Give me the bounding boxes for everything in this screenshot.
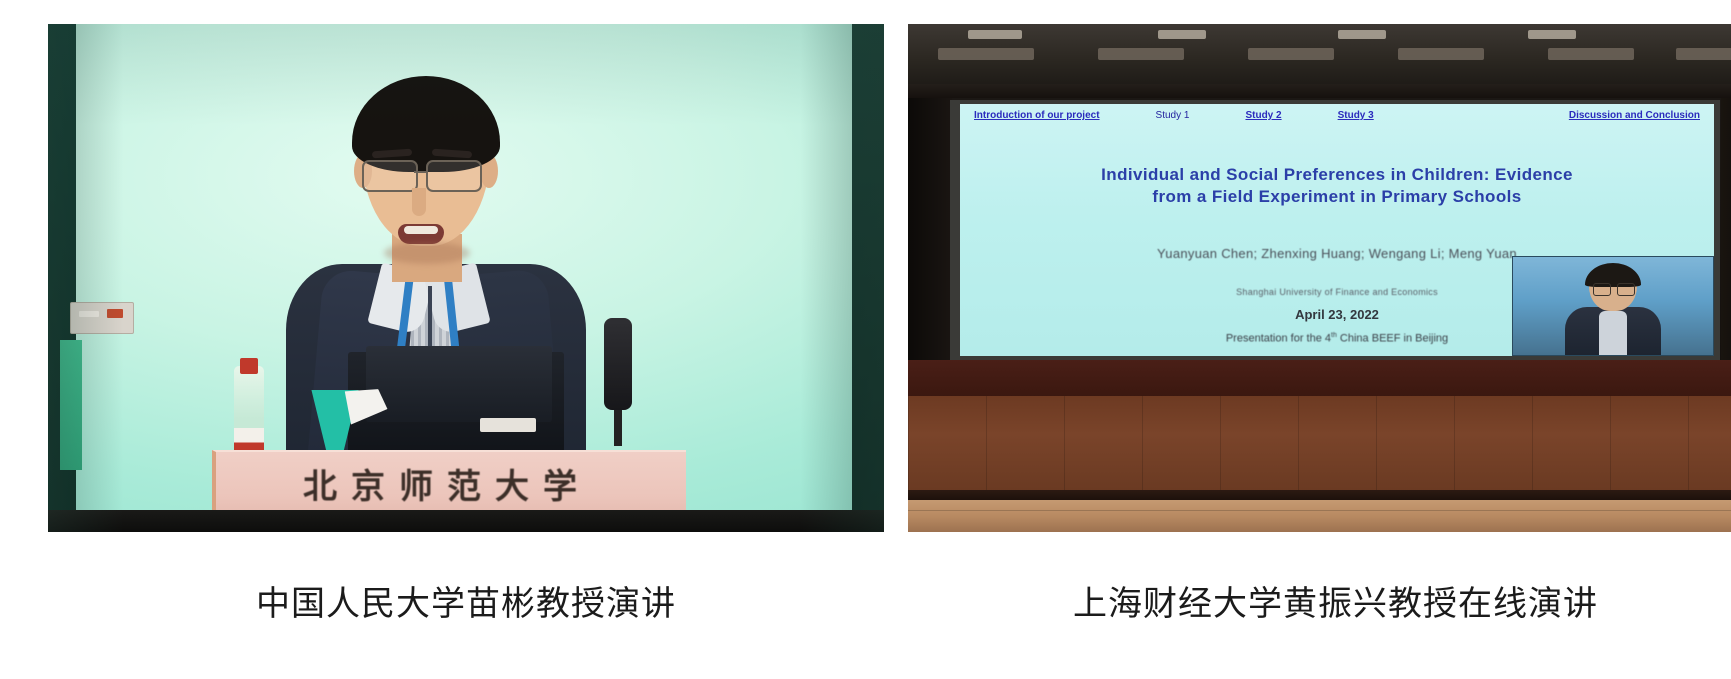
figure-page: 北京师范大学 中国人民大学苗彬教授演讲: [0, 0, 1731, 679]
slide-venue-suffix: China BEEF in Beijing: [1337, 333, 1448, 345]
ceiling-tile: [1676, 48, 1731, 60]
ceiling-tile: [1248, 48, 1334, 60]
figure-left: 北京师范大学 中国人民大学苗彬教授演讲: [48, 24, 884, 625]
projection-screen-frame: Introduction of our project Study 1 Stud…: [950, 100, 1720, 360]
lower-wall-band: [908, 360, 1731, 398]
nav-item-study-2[interactable]: Study 2: [1245, 110, 1281, 121]
nav-item-discussion-conclusion[interactable]: Discussion and Conclusion: [1569, 110, 1700, 121]
nav-item-study-3[interactable]: Study 3: [1338, 110, 1374, 121]
ceiling-light: [968, 30, 1022, 39]
wood-panel-wall: [908, 396, 1731, 492]
photo-left-lecture-hall: 北京师范大学: [48, 24, 884, 532]
webcam-video-inset: [1512, 256, 1714, 356]
ceiling-light: [1338, 30, 1386, 39]
ceiling-tile: [1098, 48, 1184, 60]
slide-navigation-bar: Introduction of our project Study 1 Stud…: [960, 110, 1714, 121]
webcam-person-shirt: [1599, 311, 1627, 355]
nav-item-introduction[interactable]: Introduction of our project: [974, 110, 1100, 121]
ceiling-tile: [1548, 48, 1634, 60]
photo-right-auditorium: Introduction of our project Study 1 Stud…: [908, 24, 1731, 532]
slide-title-line-2: from a Field Experiment in Primary Schoo…: [988, 186, 1686, 208]
presentation-slide: Introduction of our project Study 1 Stud…: [960, 104, 1714, 356]
webcam-eyeglass-lens-right: [1617, 283, 1635, 296]
webcam-eyeglass-lens-left: [1593, 283, 1611, 296]
slide-venue-prefix: Presentation for the 4: [1226, 333, 1331, 345]
ceiling: [908, 24, 1731, 88]
caption-left: 中国人民大学苗彬教授演讲: [48, 576, 884, 625]
photo-vignette: [48, 24, 884, 532]
caption-right: 上海财经大学黄振兴教授在线演讲: [908, 576, 1731, 625]
figure-right: Introduction of our project Study 1 Stud…: [908, 24, 1731, 625]
nav-item-study-1[interactable]: Study 1: [1156, 110, 1190, 121]
ceiling-tile: [1398, 48, 1484, 60]
slide-title-line-1: Individual and Social Preferences in Chi…: [988, 164, 1686, 186]
floor-seam: [908, 510, 1731, 511]
figure-row: 北京师范大学 中国人民大学苗彬教授演讲: [0, 0, 1731, 679]
slide-title: Individual and Social Preferences in Chi…: [960, 164, 1714, 209]
ceiling-light: [1158, 30, 1206, 39]
ceiling-tile: [938, 48, 1034, 60]
ceiling-light: [1528, 30, 1576, 39]
stage-floor: [908, 500, 1731, 532]
